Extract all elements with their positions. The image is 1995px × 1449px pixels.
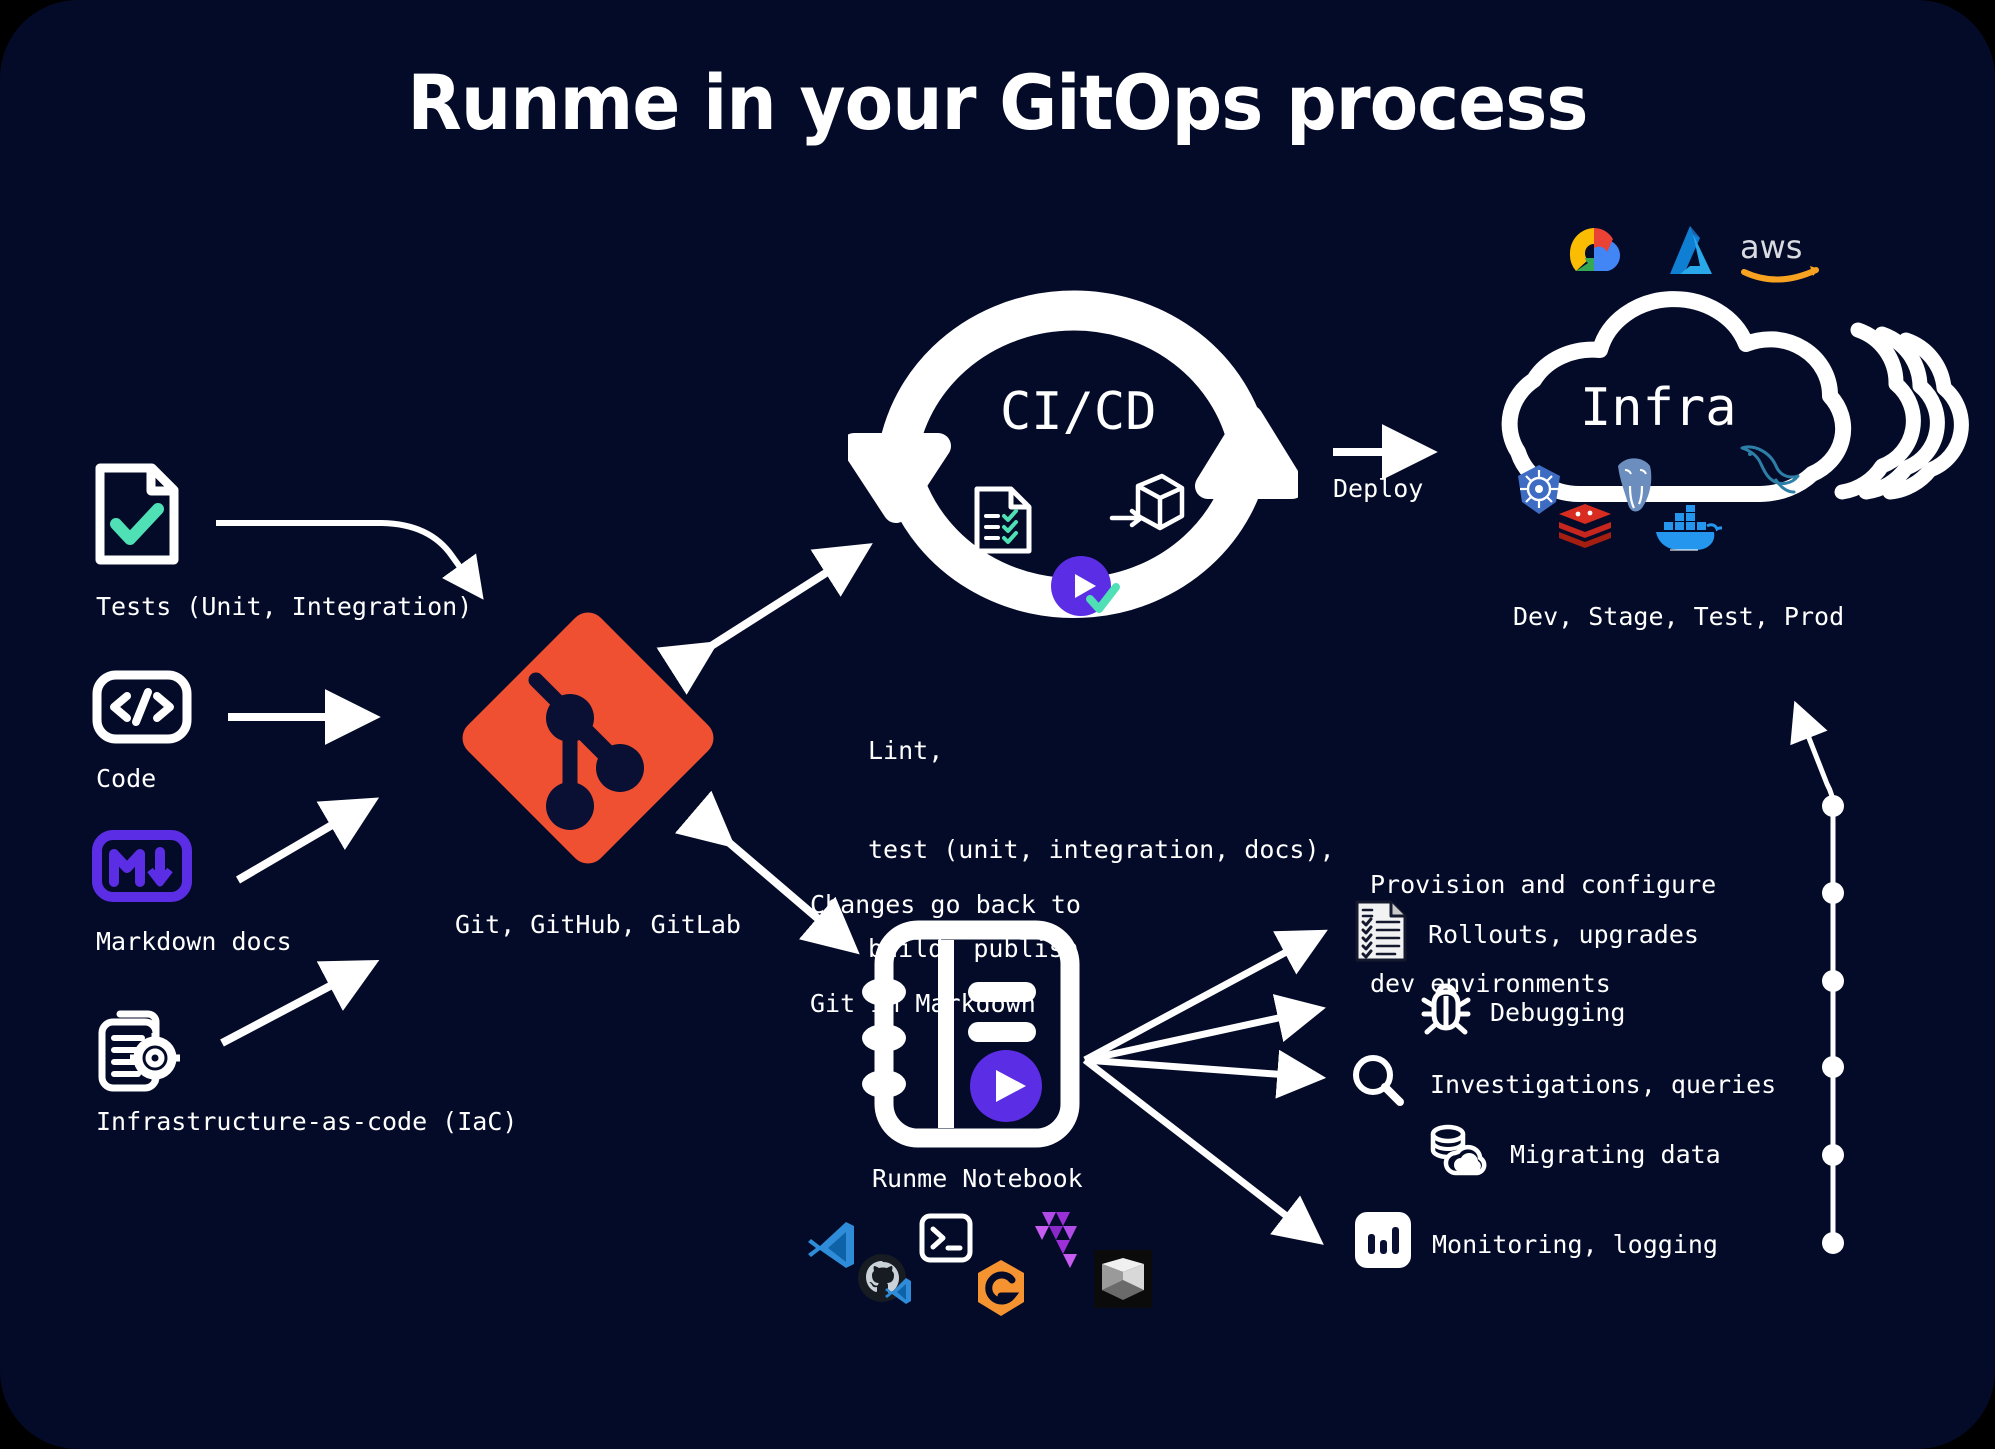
document-check-icon bbox=[94, 462, 180, 566]
vscode-icon bbox=[806, 1218, 860, 1272]
argo-icon bbox=[1022, 1210, 1084, 1274]
azure-icon bbox=[1660, 222, 1722, 284]
timeline-dot bbox=[1822, 795, 1844, 817]
page-title: Runme in your GitOps process bbox=[70, 58, 1925, 147]
timeline-dot bbox=[1822, 970, 1844, 992]
bug-icon bbox=[1420, 982, 1472, 1036]
postgresql-icon bbox=[1610, 456, 1658, 516]
database-cloud-icon bbox=[1428, 1122, 1490, 1178]
arrow-markdown-to-git bbox=[238, 804, 368, 880]
stackblitz-cube-icon bbox=[1094, 1250, 1152, 1308]
arrow-notebook-to-monitoring bbox=[1085, 1060, 1315, 1238]
input-label-tests: Tests (Unit, Integration) bbox=[96, 590, 472, 623]
markdown-icon bbox=[92, 830, 192, 902]
input-label-iac: Infrastructure-as-code (IaC) bbox=[96, 1105, 517, 1138]
arrow-iac-to-git bbox=[222, 966, 368, 1043]
git-label: Git, GitHub, GitLab bbox=[455, 908, 741, 941]
activity-label-investigations: Investigations, queries bbox=[1430, 1068, 1776, 1101]
redis-icon bbox=[1556, 500, 1614, 554]
input-label-markdown: Markdown docs bbox=[96, 925, 292, 958]
runme-notebook-icon bbox=[862, 920, 1082, 1150]
activity-label-rollouts: Rollouts, upgrades bbox=[1428, 918, 1699, 951]
timeline-dot bbox=[1822, 882, 1844, 904]
runme-play-check-icon bbox=[1050, 555, 1124, 621]
cicd-caption-line: Lint, bbox=[868, 734, 1335, 767]
timeline-dot bbox=[1822, 1144, 1844, 1166]
timeline-dot bbox=[1822, 1232, 1844, 1254]
arrow-tests-to-git bbox=[216, 523, 478, 592]
docker-icon bbox=[1652, 504, 1722, 556]
activity-line: Provision and configure bbox=[1370, 868, 1716, 901]
activity-label-migrating: Migrating data bbox=[1510, 1138, 1721, 1171]
arrow-notebook-to-investigations bbox=[1085, 1060, 1315, 1077]
git-diamond-icon bbox=[448, 598, 728, 878]
package-cube-icon bbox=[1108, 470, 1186, 546]
arrow-git-to-cicd bbox=[708, 550, 862, 648]
changes-note-line: Changes go back to bbox=[810, 888, 1081, 921]
svg-text:aws: aws bbox=[1740, 228, 1802, 266]
timeline-dot bbox=[1822, 1056, 1844, 1078]
magnifier-icon bbox=[1350, 1052, 1406, 1108]
infra-caption: Dev, Stage, Test, Prod bbox=[1513, 600, 1844, 633]
document-gear-icon bbox=[92, 1000, 192, 1094]
notebook-label: Runme Notebook bbox=[872, 1162, 1083, 1195]
diagram-canvas: Runme in your GitOps process bbox=[0, 0, 1995, 1449]
activity-label-debugging: Debugging bbox=[1490, 996, 1625, 1029]
input-label-code: Code bbox=[96, 762, 156, 795]
aws-icon: aws bbox=[1738, 228, 1832, 286]
mysql-dolphin-icon bbox=[1736, 442, 1800, 502]
checklist-document-icon bbox=[972, 485, 1034, 555]
cicd-title: CI/CD bbox=[1000, 382, 1157, 442]
bar-chart-icon bbox=[1355, 1212, 1411, 1268]
infra-title: Infra bbox=[1580, 378, 1737, 438]
github-codespaces-icon bbox=[856, 1252, 918, 1310]
timeline-line bbox=[1798, 710, 1833, 1243]
code-brackets-icon bbox=[92, 670, 192, 744]
terminal-icon bbox=[918, 1212, 974, 1264]
deploy-label: Deploy bbox=[1333, 472, 1423, 505]
activity-label-monitoring: Monitoring, logging bbox=[1432, 1228, 1718, 1261]
checklist-icon bbox=[1355, 900, 1407, 962]
google-cloud-icon bbox=[1558, 222, 1630, 284]
gitpod-icon bbox=[974, 1258, 1028, 1318]
